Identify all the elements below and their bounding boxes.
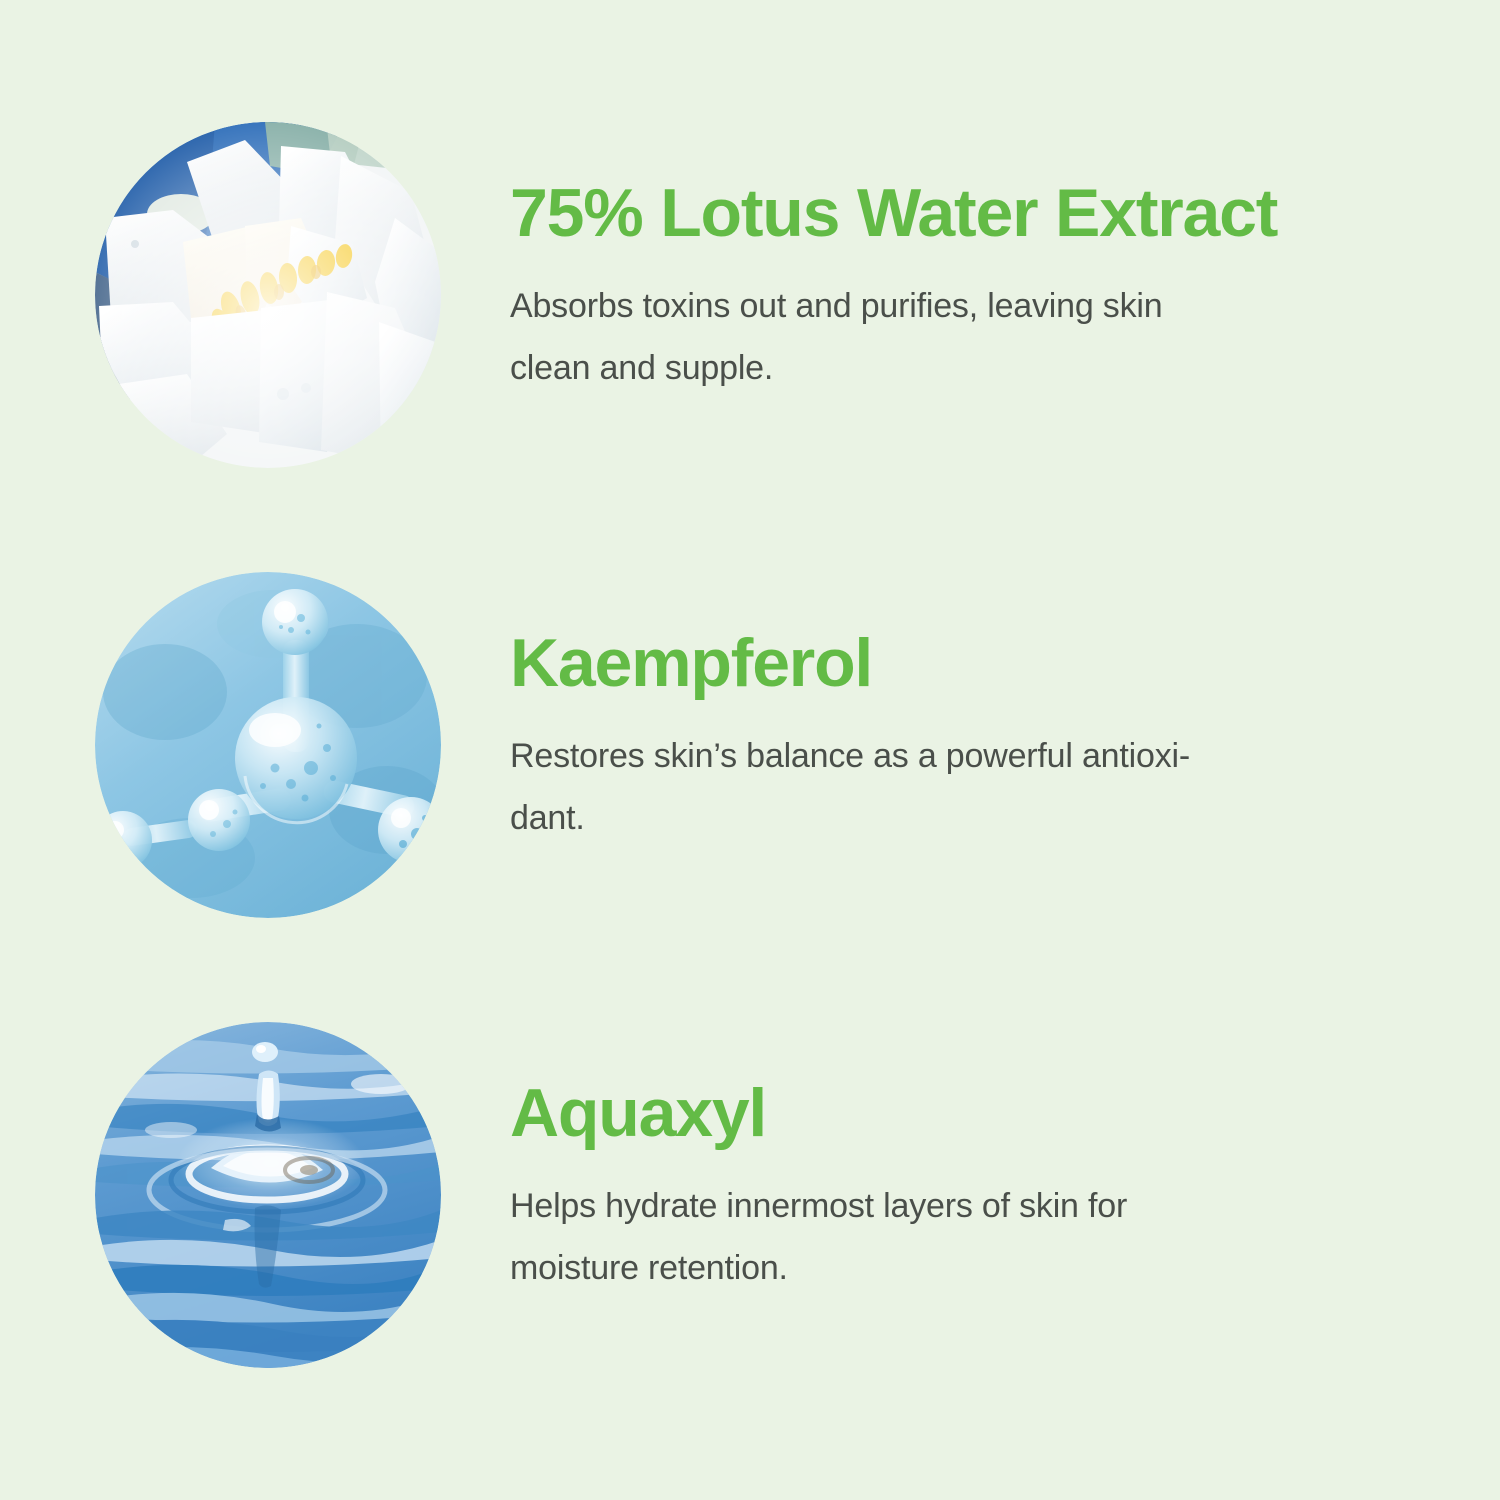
water-molecule-photo <box>95 572 441 918</box>
desc-line: Absorbs toxins out and purifies, leaving… <box>510 275 1310 337</box>
feature-description: Absorbs toxins out and purifies, leaving… <box>510 247 1310 399</box>
desc-line: moisture retention. <box>510 1237 1310 1299</box>
desc-line: dant. <box>510 787 1310 849</box>
desc-line: Helps hydrate innermost layers of skin f… <box>510 1175 1310 1237</box>
ingredient-benefits-infographic: 75% Lotus Water Extract Absorbs toxins o… <box>0 0 1500 1500</box>
feature-row-lotus: 75% Lotus Water Extract Absorbs toxins o… <box>0 122 1500 468</box>
feature-description: Helps hydrate innermost layers of skin f… <box>510 1147 1310 1299</box>
water-droplet-photo <box>95 1022 441 1368</box>
feature-text-aquaxyl: Aquaxyl Helps hydrate innermost layers o… <box>510 1022 1500 1299</box>
feature-row-aquaxyl: Aquaxyl Helps hydrate innermost layers o… <box>0 1022 1500 1368</box>
feature-description: Restores skin’s balance as a powerful an… <box>510 697 1310 849</box>
lotus-flower-photo <box>95 122 441 468</box>
feature-title: Kaempferol <box>510 629 1500 697</box>
desc-line: clean and supple. <box>510 337 1310 399</box>
feature-title: Aquaxyl <box>510 1079 1500 1147</box>
feature-title: 75% Lotus Water Extract <box>510 179 1500 247</box>
desc-line: Restores skin’s balance as a powerful an… <box>510 725 1310 787</box>
feature-row-kaempferol: Kaempferol Restores skin’s balance as a … <box>0 572 1500 918</box>
feature-text-kaempferol: Kaempferol Restores skin’s balance as a … <box>510 572 1500 849</box>
feature-text-lotus: 75% Lotus Water Extract Absorbs toxins o… <box>510 122 1500 399</box>
